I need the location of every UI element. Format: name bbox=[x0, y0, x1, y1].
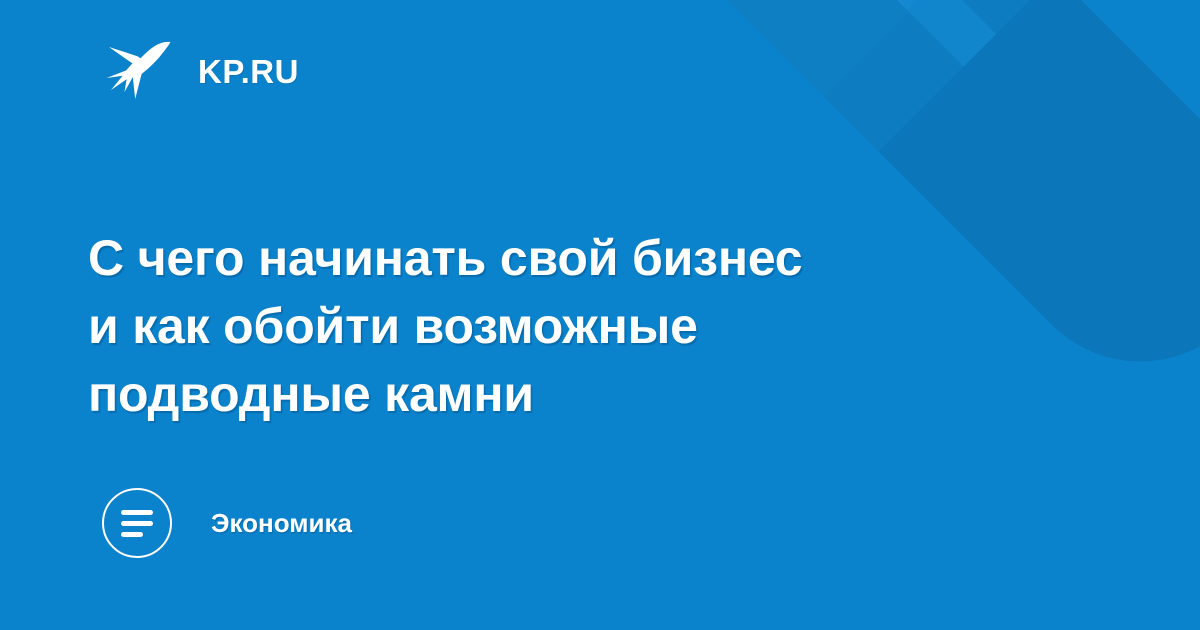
menu-bar-2 bbox=[121, 521, 153, 526]
headline-line-2: и как обойти возможные bbox=[88, 292, 958, 360]
menu-bar-3 bbox=[121, 532, 143, 537]
rubric-badge[interactable]: Экономика bbox=[102, 487, 352, 559]
brand-name: KP.RU bbox=[198, 55, 299, 88]
brand-row[interactable]: KP.RU bbox=[104, 33, 299, 109]
headline-line-1: С чего начинать свой бизнес bbox=[88, 224, 958, 292]
rubric-label: Экономика bbox=[211, 510, 352, 536]
share-card: KP.RU С чего начинать свой бизнес и как … bbox=[0, 0, 1200, 630]
menu-bar-1 bbox=[121, 510, 153, 515]
swallow-bird-icon bbox=[104, 35, 176, 107]
page-title: С чего начинать свой бизнес и как обойти… bbox=[88, 224, 958, 428]
headline-line-3: подводные камни bbox=[88, 360, 958, 428]
hamburger-menu-icon[interactable] bbox=[102, 488, 172, 558]
